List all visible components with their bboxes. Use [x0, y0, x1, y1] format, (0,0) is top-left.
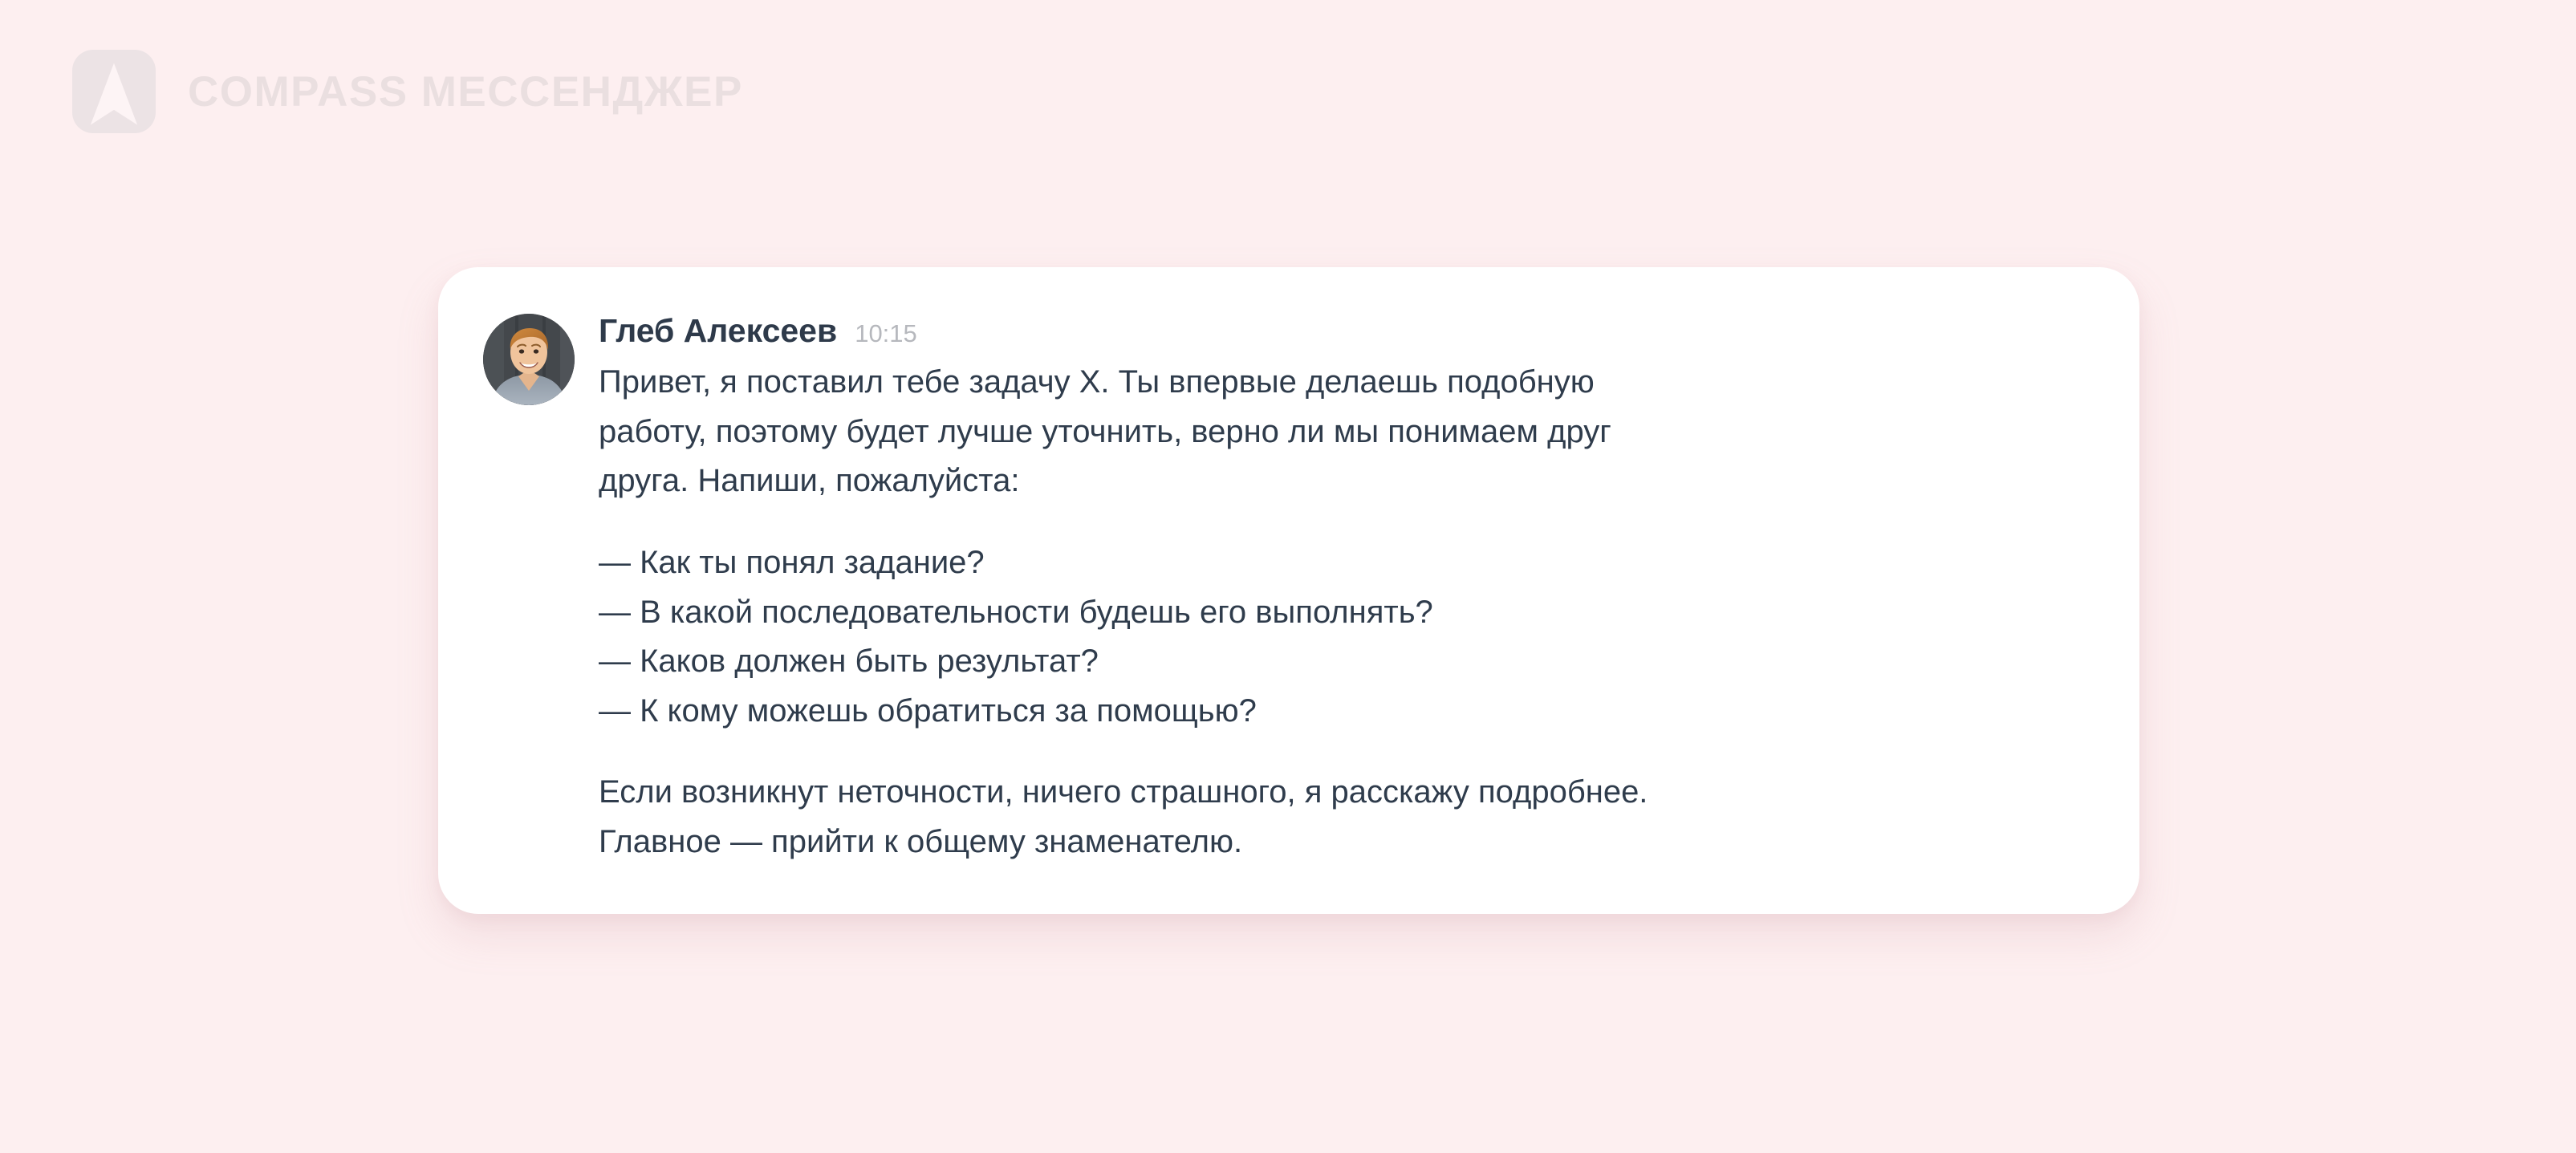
message-line: Главное — прийти к общему знаменателю.	[599, 818, 2091, 867]
list-item: — В какой последовательности будешь его …	[599, 588, 2091, 638]
message-line: Привет, я поставил тебе задачу X. Ты впе…	[599, 358, 2091, 408]
message-line: друга. Напиши, пожалуйста:	[599, 457, 2091, 506]
message-text: Привет, я поставил тебе задачу X. Ты впе…	[599, 358, 2091, 867]
message-header: Глеб Алексеев 10:15	[599, 311, 2091, 351]
avatar[interactable]	[483, 314, 575, 405]
message-timestamp: 10:15	[855, 319, 917, 350]
message-question-list: — Как ты понял задание? — В какой послед…	[599, 538, 2091, 736]
paragraph-spacer	[599, 506, 2091, 538]
message-line: работу, поэтому будет лучше уточнить, ве…	[599, 408, 2091, 457]
compass-needle-icon	[72, 50, 156, 133]
list-item: — Каков должен быть результат?	[599, 637, 2091, 687]
message-line: Если возникнут неточности, ничего страшн…	[599, 768, 2091, 818]
paragraph-spacer	[599, 736, 2091, 768]
message-outro-paragraph: Если возникнут неточности, ничего страшн…	[599, 768, 2091, 867]
list-item: — К кому можешь обратиться за помощью?	[599, 687, 2091, 737]
author-name[interactable]: Глеб Алексеев	[599, 311, 837, 351]
list-item: — Как ты понял задание?	[599, 538, 2091, 588]
brand-title: COMPASS МЕССЕНДЖЕР	[188, 71, 743, 113]
message-row: Глеб Алексеев 10:15 Привет, я поставил т…	[483, 309, 2091, 867]
message-body: Глеб Алексеев 10:15 Привет, я поставил т…	[599, 309, 2091, 867]
brand-header: COMPASS МЕССЕНДЖЕР	[72, 50, 743, 133]
message-intro-paragraph: Привет, я поставил тебе задачу X. Ты впе…	[599, 358, 2091, 506]
message-card: Глеб Алексеев 10:15 Привет, я поставил т…	[438, 267, 2139, 914]
